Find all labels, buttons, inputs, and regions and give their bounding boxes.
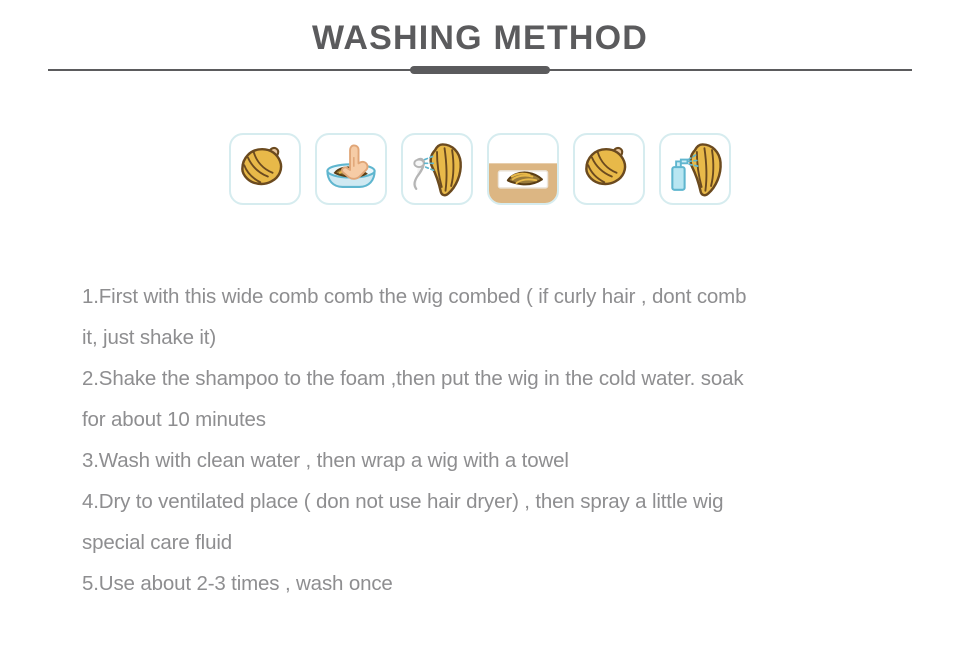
icon-tile-wig-on-towel bbox=[487, 133, 559, 205]
washing-instructions: 1.First with this wide comb comb the wig… bbox=[82, 276, 882, 604]
title-divider bbox=[48, 66, 912, 76]
wig-comb-dry-icon bbox=[575, 135, 643, 203]
instruction-line: 3.Wash with clean water , then wrap a wi… bbox=[82, 440, 882, 481]
icon-tile-wig-comb bbox=[229, 133, 301, 205]
rinse-shower-wig-icon bbox=[403, 135, 471, 203]
icon-tile-spray-bottle-wig bbox=[659, 133, 731, 205]
instruction-line: for about 10 minutes bbox=[82, 399, 882, 440]
instruction-line: 4.Dry to ventilated place ( don not use … bbox=[82, 481, 882, 522]
spray-bottle-wig-icon bbox=[661, 135, 729, 203]
instruction-line: 5.Use about 2-3 times , wash once bbox=[82, 563, 882, 604]
icon-tile-rinse-shower-wig bbox=[401, 133, 473, 205]
page-title: WASHING METHOD bbox=[0, 16, 960, 60]
instruction-line: 2.Shake the shampoo to the foam ,then pu… bbox=[82, 358, 882, 399]
instruction-line: special care fluid bbox=[82, 522, 882, 563]
wig-comb-icon bbox=[231, 135, 299, 203]
instruction-line: 1.First with this wide comb comb the wig… bbox=[82, 276, 882, 317]
hand-wash-basin-icon bbox=[317, 135, 385, 203]
page-header: WASHING METHOD bbox=[0, 0, 960, 96]
washing-step-icon-strip bbox=[0, 133, 960, 217]
wig-on-towel-icon bbox=[489, 135, 557, 203]
icon-tile-wig-comb-dry bbox=[573, 133, 645, 205]
instruction-line: it, just shake it) bbox=[82, 317, 882, 358]
icon-tile-hand-wash-basin bbox=[315, 133, 387, 205]
divider-center-bar bbox=[410, 66, 550, 74]
